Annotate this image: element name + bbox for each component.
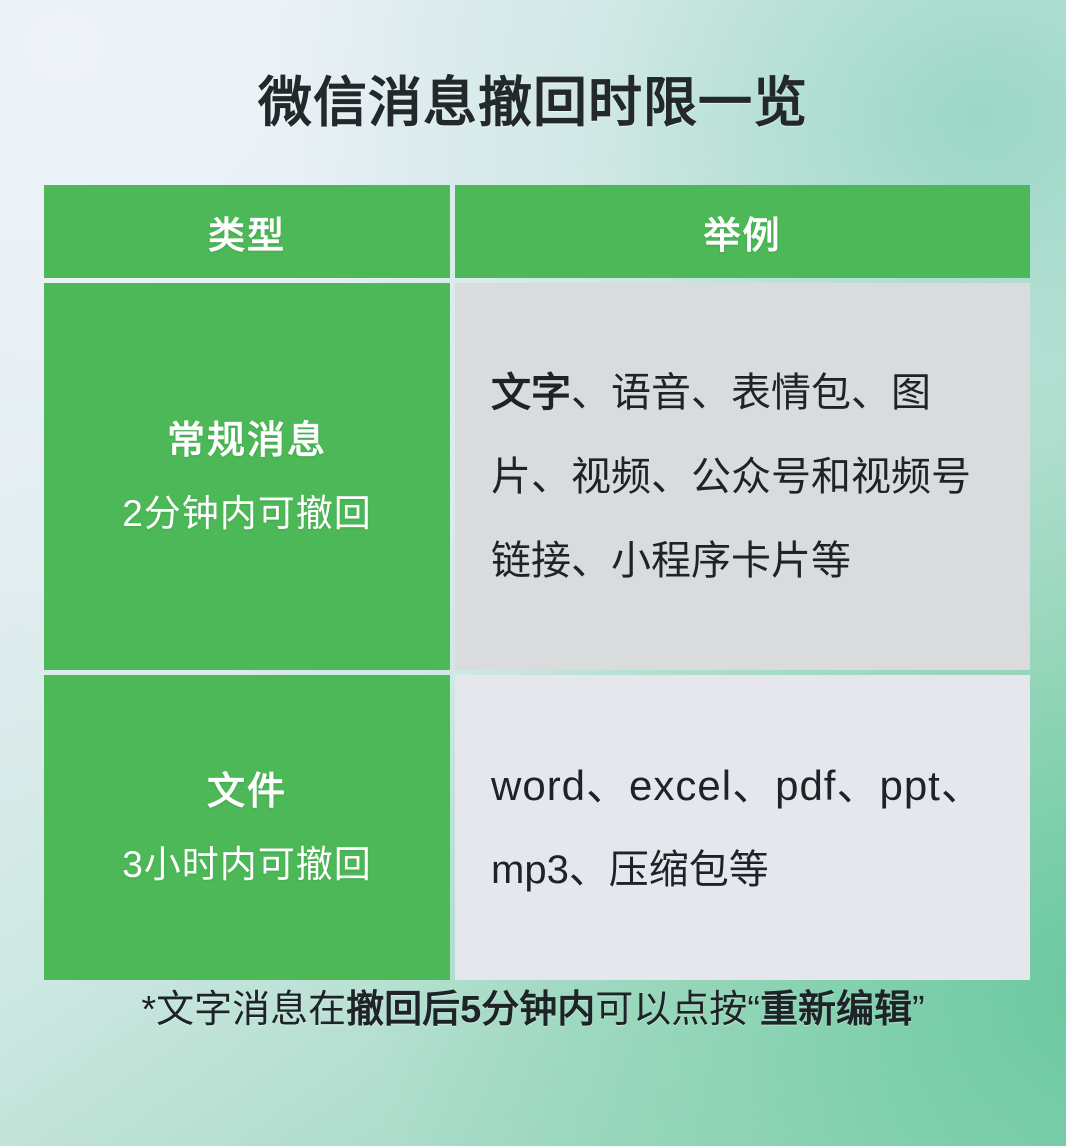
footnote-quote-close: ” — [912, 989, 925, 1031]
footnote-bold-duration: 撤回后5分钟内 — [346, 989, 595, 1031]
row-2-type-cell: 文件 3小时内可撤回 — [44, 675, 450, 980]
page-title: 微信消息撤回时限一览 — [0, 72, 1066, 134]
row-1-example-text: 文字、语音、表情包、图片、视频、公众号和视频号链接、小程序卡片等 — [491, 351, 996, 603]
header-label-type: 类型 — [208, 205, 286, 259]
recall-limits-table: 类型 举例 常规消息 2分钟内可撤回 文字、语音、表情包、图片、视频、公众号和视… — [44, 185, 1030, 980]
footnote-part2: 可以点按 — [595, 989, 747, 1031]
poster-canvas: 微信消息撤回时限一览 类型 举例 常规消息 2分钟内可撤回 文字、语音、表情包、… — [0, 0, 1066, 1146]
header-cell-example: 举例 — [455, 185, 1030, 278]
row-1-example-bold: 文字 — [491, 371, 571, 415]
row-1-type-name: 常规消息 — [167, 415, 327, 467]
row-2-example-cell: word、excel、pdf、ppt、 mp3、压缩包等 — [455, 675, 1030, 980]
row-2-example-latin: word、excel、pdf、ppt、 — [491, 744, 996, 828]
footnote-part1: 文字消息在 — [156, 989, 346, 1031]
row-2-type-name: 文件 — [207, 766, 287, 818]
table-row: 常规消息 2分钟内可撤回 文字、语音、表情包、图片、视频、公众号和视频号链接、小… — [44, 283, 1030, 670]
row-2-type-duration: 3小时内可撤回 — [122, 840, 372, 890]
footnote-bold-action: 重新编辑 — [760, 989, 912, 1031]
footnote-asterisk: * — [141, 989, 156, 1031]
table-row: 文件 3小时内可撤回 word、excel、pdf、ppt、 mp3、压缩包等 — [44, 675, 1030, 980]
row-1-example-cell: 文字、语音、表情包、图片、视频、公众号和视频号链接、小程序卡片等 — [455, 283, 1030, 670]
footnote-quote-open: “ — [747, 989, 760, 1031]
header-label-example: 举例 — [704, 205, 782, 259]
row-1-type-duration: 2分钟内可撤回 — [122, 489, 372, 539]
footnote: *文字消息在撤回后5分钟内可以点按“重新编辑” — [0, 985, 1066, 1035]
row-1-type-cell: 常规消息 2分钟内可撤回 — [44, 283, 450, 670]
table-header-row: 类型 举例 — [44, 185, 1030, 278]
header-cell-type: 类型 — [44, 185, 450, 278]
row-2-example-rest: mp3、压缩包等 — [491, 828, 996, 912]
